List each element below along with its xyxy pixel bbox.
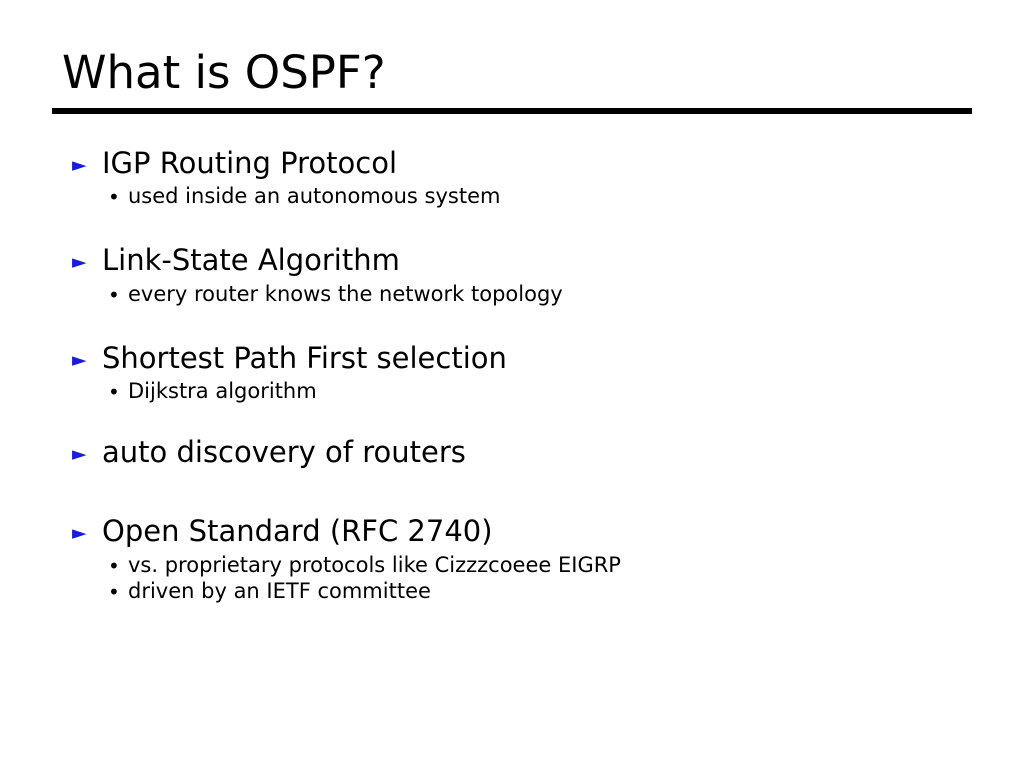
bullet-label: IGP Routing Protocol (102, 146, 397, 181)
bullet-item: ► Open Standard (RFC 2740) (72, 514, 992, 549)
sub-bullet-label: used inside an autonomous system (128, 183, 500, 210)
sub-bullet-label: vs. proprietary protocols like Cizzzcoee… (128, 552, 621, 579)
spacer (72, 210, 992, 243)
page-title: What is OSPF? (62, 50, 386, 95)
bullet-item: ► IGP Routing Protocol (72, 146, 992, 181)
bullet-label: Open Standard (RFC 2740) (102, 514, 493, 549)
dot-bullet-icon: • (108, 378, 128, 402)
sub-bullet-item: • Dijkstra algorithm (108, 378, 992, 405)
bullet-block-1: ► IGP Routing Protocol • used inside an … (72, 146, 992, 210)
dot-bullet-icon: • (108, 183, 128, 207)
dot-bullet-icon: • (108, 578, 128, 602)
bullet-block-2: ► Link-State Algorithm • every router kn… (72, 243, 992, 307)
sub-bullet-item: • vs. proprietary protocols like Cizzzco… (108, 552, 992, 579)
dot-bullet-icon: • (108, 281, 128, 305)
sub-bullet-label: driven by an IETF committee (128, 578, 431, 605)
bullet-item: ► Shortest Path First selection (72, 341, 992, 376)
bullet-item: ► Link-State Algorithm (72, 243, 992, 278)
spacer (72, 308, 992, 341)
bullet-label: Shortest Path First selection (102, 341, 507, 376)
bullet-block-5: ► Open Standard (RFC 2740) • vs. proprie… (72, 514, 992, 605)
title-divider (52, 108, 972, 114)
sub-bullet-label: every router knows the network topology (128, 281, 563, 308)
triangle-bullet-icon: ► (72, 435, 102, 464)
sub-bullet-item: • used inside an autonomous system (108, 183, 992, 210)
dot-bullet-icon: • (108, 552, 128, 576)
bullet-block-3: ► Shortest Path First selection • Dijkst… (72, 341, 992, 405)
bullet-label: auto discovery of routers (102, 435, 466, 470)
spacer (72, 405, 992, 435)
triangle-bullet-icon: ► (72, 341, 102, 370)
spacer (72, 472, 992, 514)
triangle-bullet-icon: ► (72, 514, 102, 543)
triangle-bullet-icon: ► (72, 243, 102, 272)
bullet-block-4: ► auto discovery of routers (72, 435, 992, 470)
sub-bullet-item: • driven by an IETF committee (108, 578, 992, 605)
bullet-label: Link-State Algorithm (102, 243, 400, 278)
slide-content: ► IGP Routing Protocol • used inside an … (72, 146, 992, 605)
bullet-item: ► auto discovery of routers (72, 435, 992, 470)
sub-bullet-item: • every router knows the network topolog… (108, 281, 992, 308)
sub-bullet-label: Dijkstra algorithm (128, 378, 317, 405)
slide: What is OSPF? ► IGP Routing Protocol • u… (0, 0, 1024, 768)
triangle-bullet-icon: ► (72, 146, 102, 175)
